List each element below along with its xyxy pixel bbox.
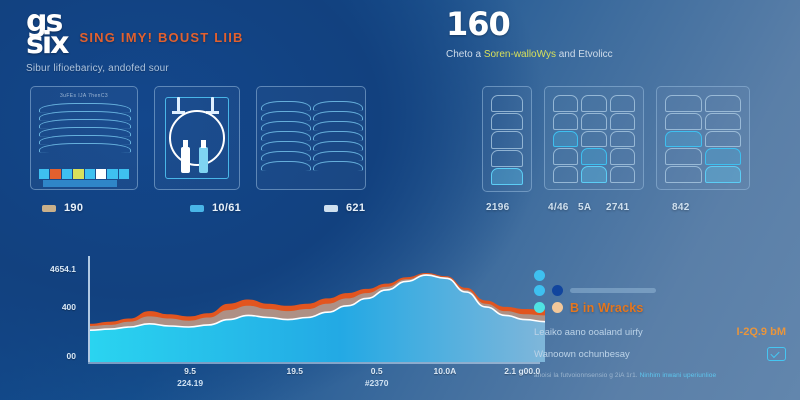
brand-logo-line2: six: [26, 30, 68, 58]
metric-grid-value-3: 2741: [606, 202, 672, 213]
legend-row-2: Wanoown ochunbesay: [534, 347, 786, 361]
subtitle-post: and Etvolicc: [556, 49, 613, 60]
dashboard-root: gs six SING IMY! BOUST LIIB Sibur lifioe…: [0, 0, 800, 400]
legend-footer-link[interactable]: Ninhim inwani uperiunlioe: [640, 372, 717, 379]
progress-bar-icon: [43, 180, 117, 187]
metric-pair-stack-value: 842: [672, 202, 690, 213]
metric-waves: 190: [42, 202, 190, 214]
check-badge-icon[interactable]: [767, 347, 786, 361]
placeholder-bar: [570, 288, 656, 293]
card-stack[interactable]: [256, 86, 366, 190]
tall-stack-icon: [491, 95, 523, 183]
subtitle-highlight: Soren-walloWys: [484, 49, 556, 60]
pair-stack-icon: [665, 95, 741, 181]
brand-logo-right: 160: [446, 8, 786, 40]
page-title-left: SING IMY! BOUST LIIB: [80, 30, 244, 45]
legend-dot-row-1: [534, 268, 786, 283]
x-tick-label: 9.5: [184, 366, 196, 376]
card-strip-right: [482, 86, 750, 192]
prong-right-icon: [211, 97, 214, 113]
legend-footer: anoisi la futvoionnsensio g 2iA 1r1. Nin…: [534, 372, 786, 379]
legend-row-1-value: I-2Q.9 bM: [736, 326, 786, 338]
dot-icon: [534, 285, 545, 296]
card-metrics-right: 2196 4/46 5A 2741 842: [486, 202, 786, 213]
document-stack-icon: [257, 99, 365, 183]
legend-footer-text: anoisi la futvoionnsensio g 2iA 1r1.: [534, 372, 640, 379]
brand-logo-left: gs six: [26, 8, 68, 57]
y-tick-label: 400: [62, 302, 76, 312]
metric-grid-value-1: 4/46: [548, 202, 578, 213]
swatch-icon: [324, 205, 338, 212]
dot-icon: [534, 302, 545, 313]
subtitle-pre: Cheto a: [446, 49, 484, 60]
header-left: gs six SING IMY! BOUST LIIB Sibur lifioe…: [26, 8, 406, 74]
legend-dot-row-3: B in Wracks: [534, 298, 786, 317]
x-tick-label: 10.0A: [434, 366, 457, 376]
swatch-icon: [42, 205, 56, 212]
header-right: 160 Cheto a Soren-walloWys and Etvolicc: [446, 8, 786, 60]
card-grid-stack[interactable]: [544, 86, 644, 190]
legend-dot-row-2: [534, 283, 786, 298]
metric-bottles-value: 10/61: [212, 202, 241, 214]
card-waves[interactable]: 3uFEs IJA 7henC3: [30, 86, 138, 190]
metric-stack: 621: [324, 202, 365, 214]
legend-row-1-label: Leaiko aano ooaland uirfy: [534, 327, 643, 338]
page-subtitle-right: Cheto a Soren-walloWys and Etvolicc: [446, 49, 786, 60]
x-tick-label: 0.5: [371, 366, 383, 376]
dot-icon: [552, 302, 563, 313]
legend-row-1: Leaiko aano ooaland uirfy I-2Q.9 bM: [534, 326, 786, 338]
metric-stack-value: 621: [346, 202, 365, 214]
page-subtitle-left: Sibur lifioebaricy, andofed sour: [26, 63, 406, 74]
x-axis: [88, 362, 540, 364]
prong-left-icon: [177, 97, 180, 113]
card-bottles[interactable]: [154, 86, 240, 190]
ring-icon: [169, 110, 225, 166]
color-bar-icon: [39, 169, 129, 179]
bottle-left-icon: [181, 147, 190, 173]
dot-icon: [552, 285, 563, 296]
x-tick-sublabel: 224.19: [177, 378, 203, 388]
bottle-right-icon: [199, 147, 208, 173]
metric-grid-value-2: 5A: [578, 202, 606, 213]
card-strip-left: 3uFEs IJA 7henC3: [30, 86, 366, 190]
card-tall-stack[interactable]: [482, 86, 532, 192]
legend-row-2-label: Wanoown ochunbesay: [534, 349, 630, 360]
x-tick-sublabel: #2370: [365, 378, 389, 388]
chart-svg: [90, 256, 545, 362]
chart-plot-area: [90, 256, 545, 362]
y-tick-label: 00: [67, 351, 76, 361]
x-tick-label: 19.5: [286, 366, 303, 376]
y-tick-label: 4654.1: [50, 264, 76, 274]
card-metrics-left: 190 10/61 621: [42, 202, 422, 214]
legend-panel: B in Wracks Leaiko aano ooaland uirfy I-…: [534, 268, 786, 379]
area-chart[interactable]: 4654.140000 9.5224.1919.50.5#237010.0A2.…: [30, 252, 530, 382]
swatch-icon: [190, 205, 204, 212]
metric-waves-value: 190: [64, 202, 83, 214]
metric-bottles: 10/61: [190, 202, 324, 214]
grid-stack-icon: [553, 95, 635, 181]
legend-title: B in Wracks: [570, 301, 644, 315]
metric-tall-stack-value: 2196: [486, 202, 548, 213]
dot-icon: [534, 270, 545, 281]
card-pair-stack[interactable]: [656, 86, 750, 190]
